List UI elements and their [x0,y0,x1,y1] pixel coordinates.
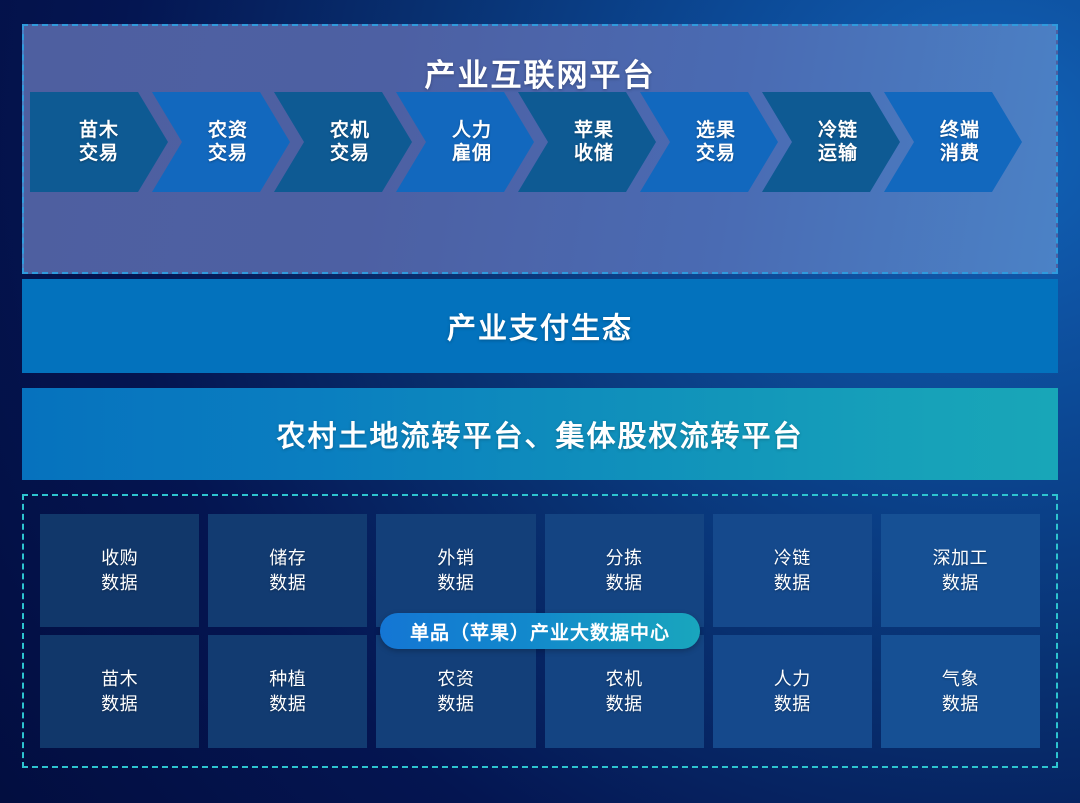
chevron-step-1-label: 苗木 交易 [79,119,119,165]
data-cell-agri-input[interactable]: 农资 数据 [376,635,535,748]
page-title: 产业互联网平台 [24,50,1056,95]
chevron-step-8[interactable]: 终端 消费 [884,92,1022,192]
data-cell-planting[interactable]: 种植 数据 [208,635,367,748]
chevron-step-6[interactable]: 选果 交易 [640,92,778,192]
big-data-center-badge: 单品（苹果）产业大数据中心 [380,613,700,649]
chevron-step-3-label: 农机 交易 [316,119,370,165]
value-chain-chevron-row: 苗木 交易 农资 交易 农机 交易 人力 雇佣 苹果 收储 选果 交易 冷链 运… [30,92,1006,192]
data-cell-seedling[interactable]: 苗木 数据 [40,635,199,748]
data-cell-purchase[interactable]: 收购 数据 [40,514,199,627]
chevron-step-4-label: 人力 雇佣 [438,119,492,165]
data-cell-export[interactable]: 外销 数据 [376,514,535,627]
chevron-step-5[interactable]: 苹果 收储 [518,92,656,192]
chevron-step-2-label: 农资 交易 [194,119,248,165]
land-transfer-band: 农村土地流转平台、集体股权流转平台 [22,388,1058,480]
chevron-step-5-label: 苹果 收储 [560,119,614,165]
data-cell-storage[interactable]: 储存 数据 [208,514,367,627]
chevron-step-2[interactable]: 农资 交易 [152,92,290,192]
data-cell-processing[interactable]: 深加工 数据 [881,514,1040,627]
chevron-step-8-label: 终端 消费 [926,119,980,165]
chevron-step-7-label: 冷链 运输 [804,119,858,165]
chevron-step-1[interactable]: 苗木 交易 [30,92,168,192]
chevron-step-3[interactable]: 农机 交易 [274,92,412,192]
payment-ecosystem-label: 产业支付生态 [447,305,633,347]
diagram-canvas: 产业互联网平台 苗木 交易 农资 交易 农机 交易 人力 雇佣 苹果 收储 选果… [0,0,1080,803]
land-transfer-label: 农村土地流转平台、集体股权流转平台 [276,413,803,455]
data-cell-machinery[interactable]: 农机 数据 [545,635,704,748]
data-cell-coldchain[interactable]: 冷链 数据 [713,514,872,627]
chevron-step-7[interactable]: 冷链 运输 [762,92,900,192]
payment-ecosystem-band: 产业支付生态 [22,279,1058,373]
data-cell-weather[interactable]: 气象 数据 [881,635,1040,748]
chevron-step-6-label: 选果 交易 [682,119,736,165]
chevron-step-4[interactable]: 人力 雇佣 [396,92,534,192]
data-cell-labor[interactable]: 人力 数据 [713,635,872,748]
data-cell-sorting[interactable]: 分拣 数据 [545,514,704,627]
